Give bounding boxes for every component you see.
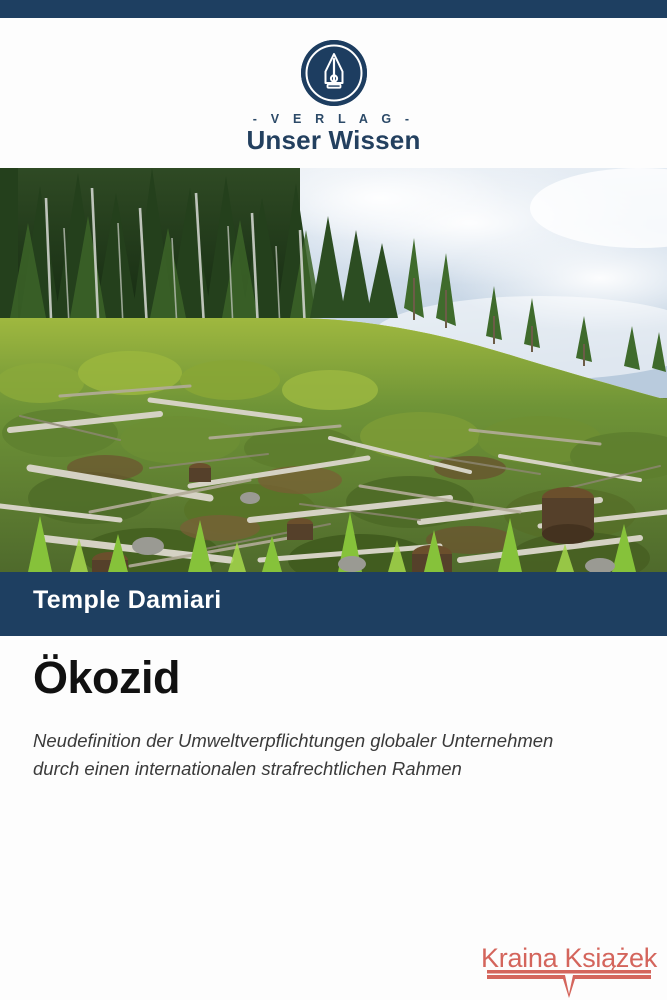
deforestation-clearcut-illustration [0,168,667,572]
publisher-name: Unser Wissen [0,127,667,154]
fountain-pen-nib-icon [301,40,367,106]
author-name: Temple Damiari [33,586,222,615]
publisher-emblem [301,40,367,106]
publisher-logo-block: - V E R L A G - Unser Wissen [0,40,667,154]
book-title: Ökozid [33,655,180,700]
book-cover: - V E R L A G - Unser Wissen [0,0,667,1000]
top-accent-bar [0,0,667,18]
open-book-icon [479,970,659,998]
kraina-ksiazek-watermark: Kraina Książek [479,945,659,998]
book-subtitle: Neudefinition der Umweltverpflichtungen … [33,727,593,783]
watermark-text: Kraina Książek [479,945,659,972]
publisher-tagline: - V E R L A G - [0,112,667,126]
cover-photo [0,168,667,572]
